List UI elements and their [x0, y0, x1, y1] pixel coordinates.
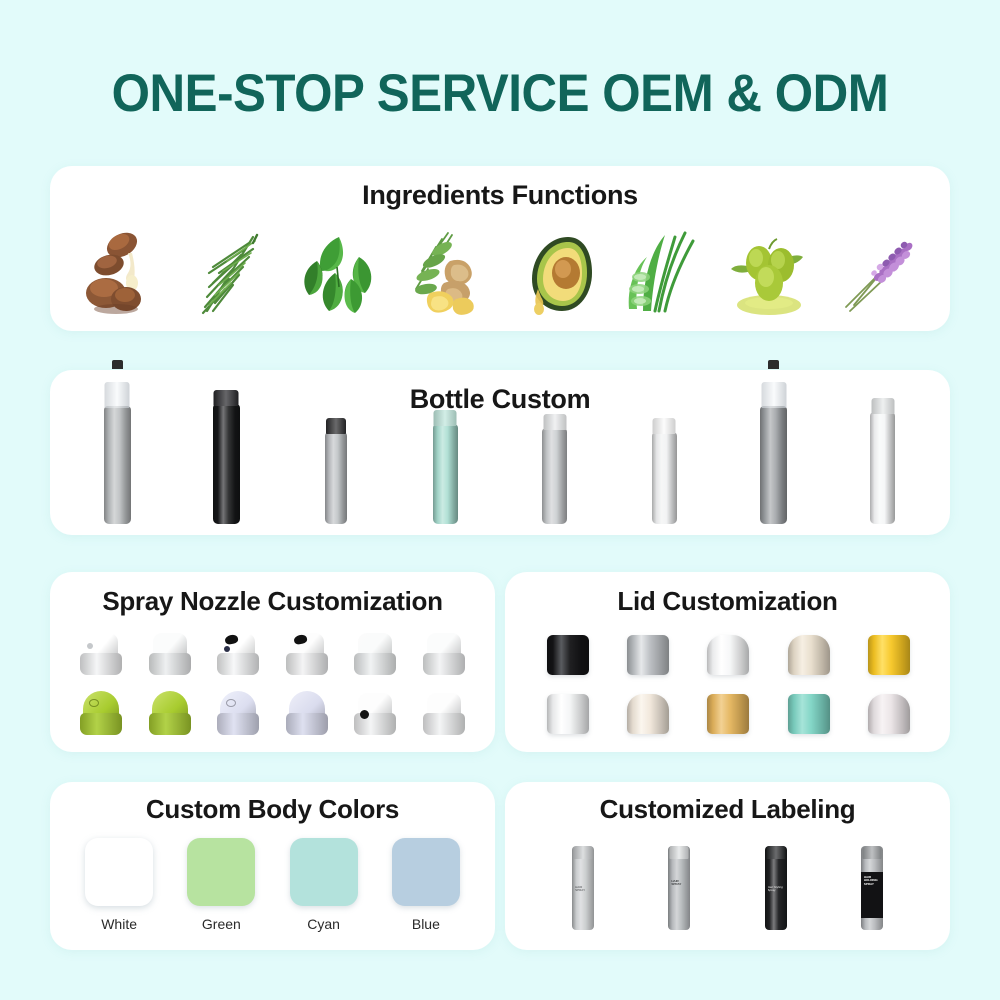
- lid-shape: [707, 635, 749, 675]
- nozzle-item[interactable]: [144, 627, 196, 679]
- lid-item[interactable]: [539, 688, 595, 738]
- labeled-bottles-row: HAIR SPRAYHAIR SPRAYHair Styling SprayHA…: [535, 830, 920, 942]
- color-swatch-item[interactable]: Green: [177, 838, 265, 932]
- bottle-item[interactable]: [840, 392, 926, 524]
- nozzle-base: [80, 653, 122, 675]
- bottle-body: [652, 432, 677, 524]
- bottle-item[interactable]: [293, 392, 379, 524]
- nozzle-base: [423, 653, 465, 675]
- labeled-bottle-item[interactable]: HAIR HOLDING SPRAY: [844, 834, 900, 930]
- nozzle-item[interactable]: [75, 687, 127, 739]
- bottle-item[interactable]: [512, 392, 598, 524]
- lid-shape: [868, 635, 910, 675]
- bottle-cap: [434, 410, 457, 426]
- bottle-spray-nozzle: [768, 360, 779, 369]
- color-swatch-label: Blue: [382, 916, 470, 932]
- lid-item[interactable]: [699, 629, 755, 679]
- nozzle-item[interactable]: [349, 687, 401, 739]
- rosemary-icon: [183, 227, 279, 319]
- mint-leaves-icon: [291, 227, 387, 319]
- color-swatch-item[interactable]: Cyan: [280, 838, 368, 932]
- bottle-item[interactable]: [402, 392, 488, 524]
- nozzle-card-title: Spray Nozzle Customization: [50, 586, 495, 617]
- color-swatch-chip[interactable]: [85, 838, 153, 906]
- nozzle-base: [286, 653, 328, 675]
- bottle-label-text: HAIR HOLDING SPRAY: [864, 876, 880, 886]
- bottle-cap: [871, 398, 894, 414]
- lid-card-title: Lid Customization: [505, 586, 950, 617]
- nozzle-base: [149, 653, 191, 675]
- colors-card-title: Custom Body Colors: [50, 794, 495, 825]
- lid-shape: [627, 635, 669, 675]
- nozzle-base: [217, 653, 259, 675]
- avocado-icon: [506, 227, 602, 319]
- color-swatch-chip[interactable]: [392, 838, 460, 906]
- lid-shape: [627, 694, 669, 734]
- lid-item[interactable]: [780, 629, 836, 679]
- color-swatch-item[interactable]: White: [75, 838, 163, 932]
- bottles-row: [74, 392, 926, 524]
- color-swatch-chip[interactable]: [290, 838, 358, 906]
- bottle-body: [104, 406, 131, 524]
- lid-shape: [547, 635, 589, 675]
- card-ingredients-functions: Ingredients Functions: [50, 166, 950, 331]
- card-spray-nozzle-customization: Spray Nozzle Customization: [50, 572, 495, 752]
- bottle-body: [433, 424, 458, 524]
- page-title: ONE-STOP SERVICE OEM & ODM: [35, 63, 965, 124]
- nozzle-item[interactable]: [281, 687, 333, 739]
- bottle-cap: [653, 418, 676, 434]
- nozzle-item[interactable]: [418, 687, 470, 739]
- labeled-bottle-item[interactable]: Hair Styling Spray: [748, 834, 804, 930]
- bottle-label-text: HAIR SPRAY: [671, 880, 687, 887]
- argan-nuts-icon: [76, 227, 172, 319]
- lid-item[interactable]: [699, 688, 755, 738]
- nozzle-base: [217, 713, 259, 735]
- nozzle-base: [286, 713, 328, 735]
- nozzle-base: [354, 653, 396, 675]
- card-custom-body-colors: Custom Body Colors WhiteGreenCyanBlue: [50, 782, 495, 950]
- nozzle-base: [80, 713, 122, 735]
- bottle-label-text: Hair Styling Spray: [768, 886, 784, 893]
- labeled-bottle-body: HAIR SPRAY: [572, 846, 594, 930]
- ginger-root-icon: [398, 227, 494, 319]
- lid-item[interactable]: [860, 629, 916, 679]
- nozzle-item[interactable]: [75, 627, 127, 679]
- ingredients-card-title: Ingredients Functions: [50, 180, 950, 211]
- labeled-bottle-body: HAIR SPRAY: [668, 846, 690, 930]
- lid-item[interactable]: [619, 629, 675, 679]
- nozzle-grid: [68, 624, 477, 742]
- labeled-bottle-cap: [862, 846, 881, 859]
- nozzle-base: [423, 713, 465, 735]
- lavender-icon: [828, 227, 924, 319]
- bottle-item[interactable]: [731, 392, 817, 524]
- bottle-overcap: [761, 382, 786, 408]
- bottle-spray-nozzle: [112, 360, 123, 369]
- bottle-body: [325, 432, 347, 524]
- color-swatch-row: WhiteGreenCyanBlue: [68, 838, 477, 942]
- lid-item[interactable]: [539, 629, 595, 679]
- color-swatch-chip[interactable]: [187, 838, 255, 906]
- nozzle-item[interactable]: [349, 627, 401, 679]
- labeled-bottle-body: HAIR HOLDING SPRAY: [861, 846, 883, 930]
- labeled-bottle-cap: [670, 846, 689, 859]
- color-swatch-item[interactable]: Blue: [382, 838, 470, 932]
- bottle-body: [760, 406, 787, 524]
- bottle-overcap: [105, 382, 130, 408]
- color-swatch-label: Cyan: [280, 916, 368, 932]
- bottle-item[interactable]: [183, 392, 269, 524]
- labeled-bottle-item[interactable]: HAIR SPRAY: [651, 834, 707, 930]
- bottle-body: [542, 428, 567, 524]
- lid-item[interactable]: [780, 688, 836, 738]
- aloe-vera-icon: [613, 227, 709, 319]
- nozzle-item[interactable]: [281, 627, 333, 679]
- labeled-bottle-item[interactable]: HAIR SPRAY: [555, 834, 611, 930]
- lid-shape: [547, 694, 589, 734]
- labeled-bottle-cap: [574, 846, 593, 859]
- bottle-item[interactable]: [74, 392, 160, 524]
- bottle-item[interactable]: [621, 392, 707, 524]
- color-swatch-label: White: [75, 916, 163, 932]
- infographic-page: ONE-STOP SERVICE OEM & ODM Ingredients F…: [0, 0, 1000, 1000]
- card-customized-labeling: Customized Labeling HAIR SPRAYHAIR SPRAY…: [505, 782, 950, 950]
- nozzle-base: [149, 713, 191, 735]
- bottle-label-text: HAIR SPRAY: [575, 886, 591, 893]
- nozzle-item[interactable]: [418, 627, 470, 679]
- nozzle-item[interactable]: [212, 687, 264, 739]
- nozzle-item[interactable]: [144, 687, 196, 739]
- labeled-bottle-cap: [766, 846, 785, 859]
- lid-shape: [868, 694, 910, 734]
- bottle-cap: [326, 418, 346, 434]
- lid-shape: [707, 694, 749, 734]
- ingredients-row: [70, 224, 930, 319]
- bottle-cap: [214, 390, 239, 406]
- lid-shape: [788, 635, 830, 675]
- bottle-body: [870, 412, 895, 524]
- lid-item[interactable]: [619, 688, 675, 738]
- labeled-bottle-body: Hair Styling Spray: [765, 846, 787, 930]
- olives-icon: [721, 227, 817, 319]
- lid-item[interactable]: [860, 688, 916, 738]
- lid-grid: [527, 624, 928, 742]
- card-bottle-custom: Bottle Custom: [50, 370, 950, 535]
- lid-shape: [788, 694, 830, 734]
- card-lid-customization: Lid Customization: [505, 572, 950, 752]
- nozzle-item[interactable]: [212, 627, 264, 679]
- color-swatch-label: Green: [177, 916, 265, 932]
- labeling-card-title: Customized Labeling: [505, 794, 950, 825]
- bottle-cap: [543, 414, 566, 430]
- bottle-body: [213, 404, 240, 524]
